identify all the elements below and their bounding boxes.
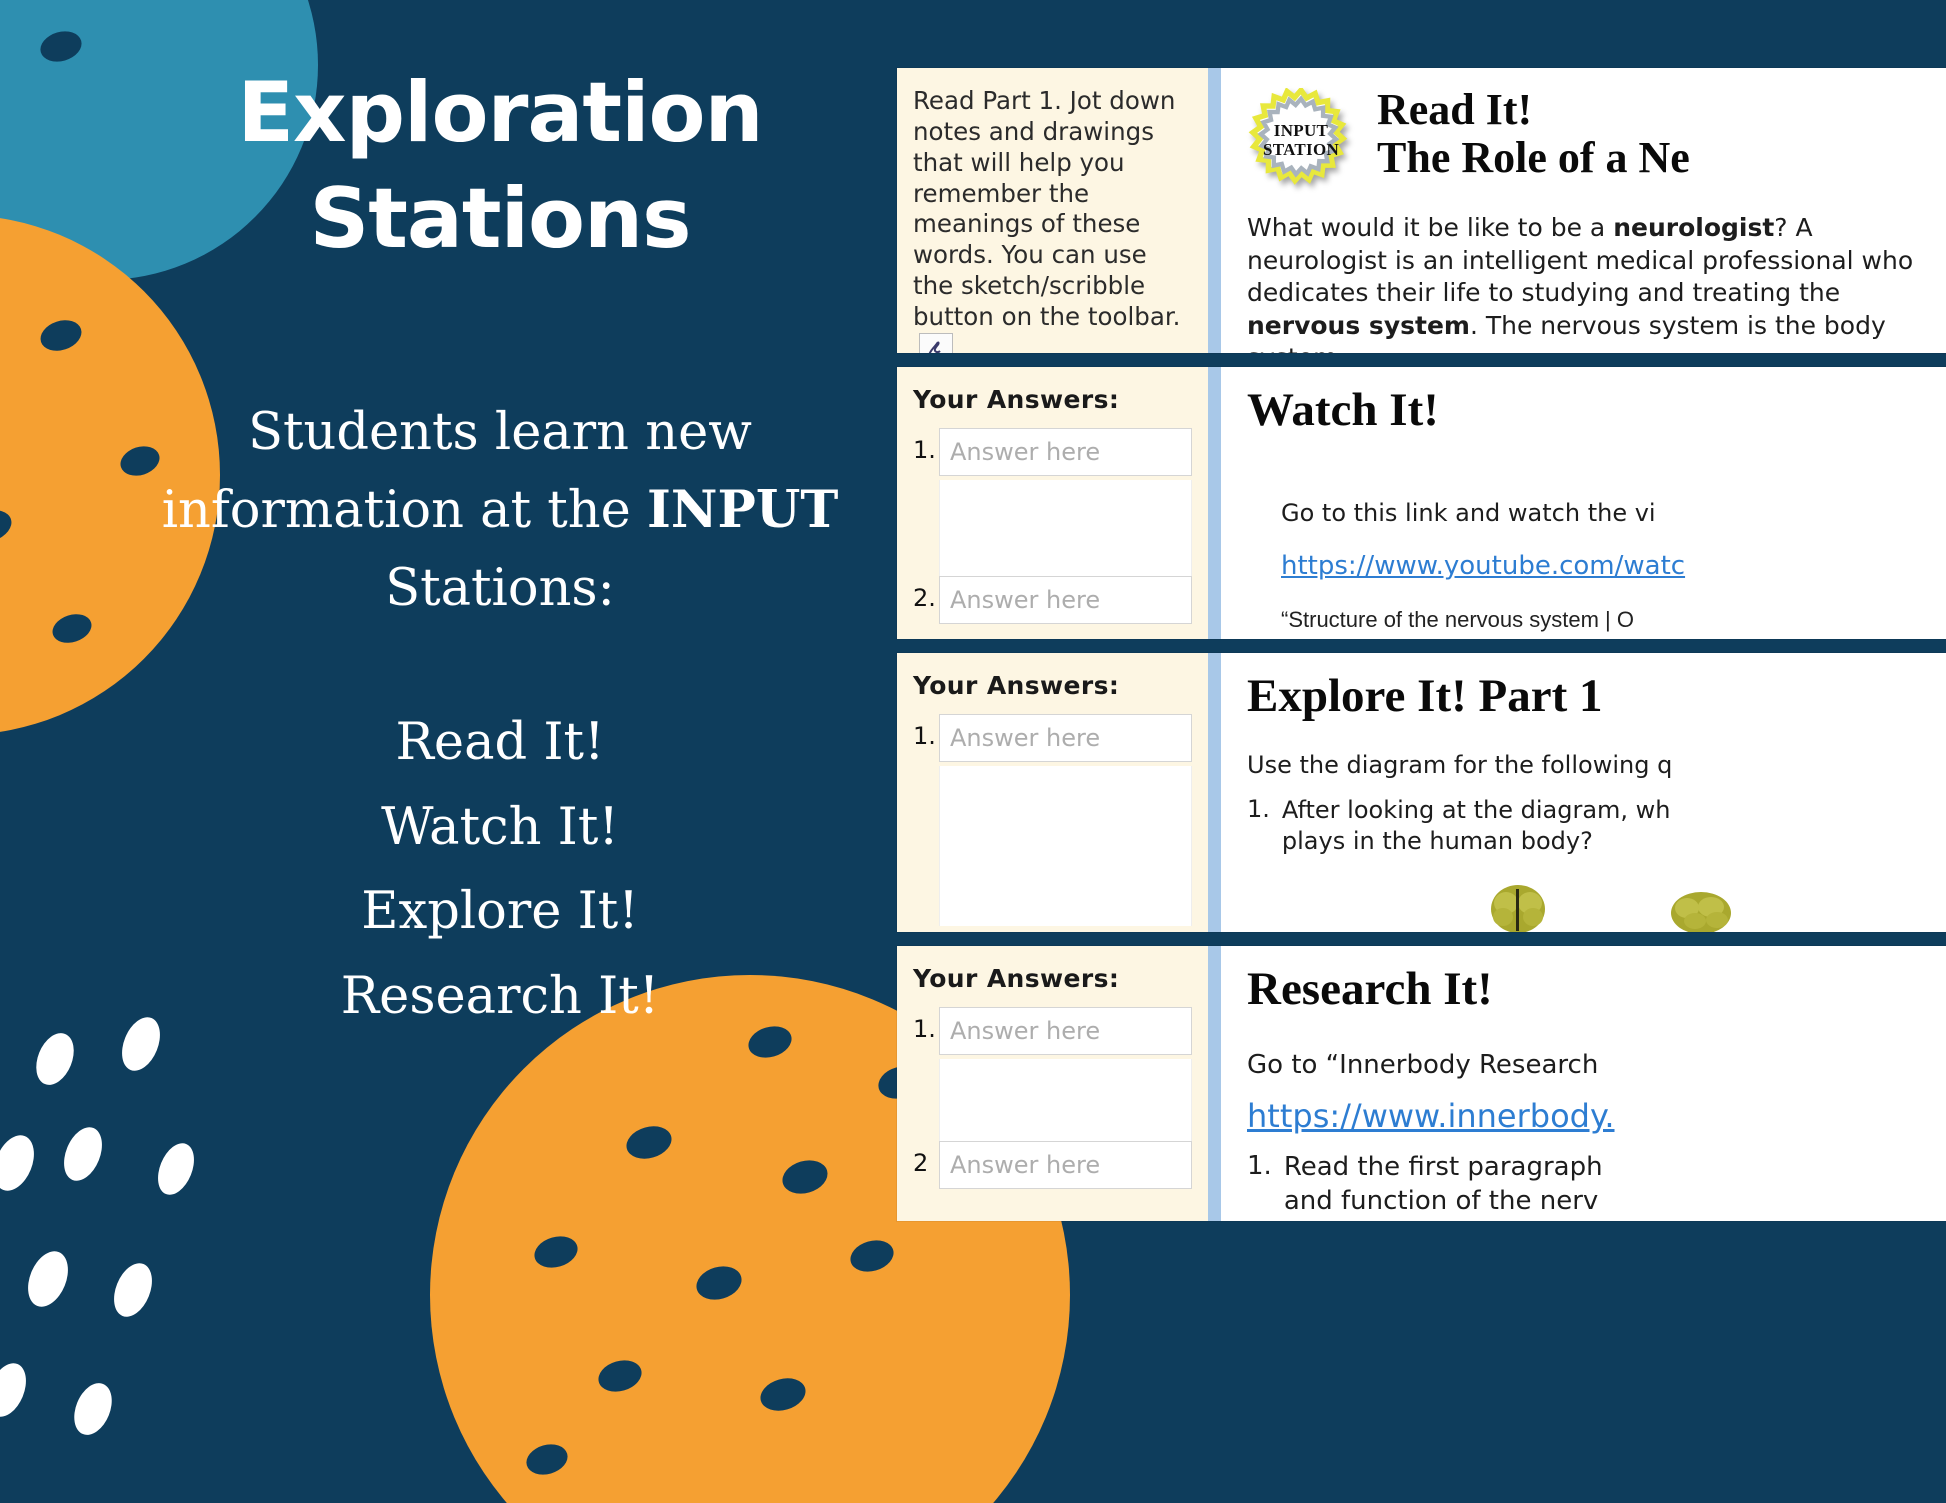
answer-number: 2.: [913, 576, 939, 612]
watch-it-caption: “Structure of the nervous system | O: [1281, 607, 1946, 633]
watch-it-heading: Watch It!: [1247, 385, 1946, 437]
screenshot-panel-research-it[interactable]: Your Answers: 1. Answer here 2 Answer he…: [897, 946, 1946, 1221]
answer-spacer: [939, 766, 1192, 926]
read-it-body: What would it be like to be a neurologis…: [1247, 212, 1946, 353]
page-title: Exploration Stations: [150, 60, 850, 272]
research-question-text-1: Read the first paragraph and function of…: [1284, 1151, 1603, 1219]
station-item-research: Research It!: [150, 955, 850, 1040]
explore-answers-label: Your Answers:: [913, 671, 1192, 700]
screenshot-panel-read-it[interactable]: Read Part 1. Jot down notes and drawings…: [897, 68, 1946, 353]
watch-it-intro: Go to this link and watch the vi: [1281, 497, 1946, 529]
research-it-site-link[interactable]: https://www.innerbody.: [1247, 1097, 1946, 1135]
input-station-badge-icon: INPUT STATION: [1247, 88, 1355, 196]
read-notes-column: Read Part 1. Jot down notes and drawings…: [897, 68, 1208, 353]
read-it-content: INPUT STATION Read It! The Role of a Ne …: [1208, 68, 1946, 353]
screenshot-panel-explore-it[interactable]: Your Answers: 1. Answer here Explore It!…: [897, 653, 1946, 932]
explore-it-intro: Use the diagram for the following q: [1247, 749, 1946, 781]
read-it-heading: Read It! The Role of a Ne: [1377, 86, 1690, 183]
research-it-content: Research It! Go to “Innerbody Research h…: [1208, 946, 1946, 1221]
answer-number: 1.: [913, 714, 939, 750]
read-body-bold-1: neurologist: [1613, 213, 1774, 242]
read-notes-text: Read Part 1. Jot down notes and drawings…: [913, 86, 1192, 353]
watch-it-content: Watch It! Go to this link and watch the …: [1208, 367, 1946, 639]
research-it-intro: Go to “Innerbody Research: [1247, 1048, 1946, 1083]
explore-it-heading: Explore It! Part 1: [1247, 671, 1946, 723]
research-answers-column: Your Answers: 1. Answer here 2 Answer he…: [897, 946, 1208, 1221]
lede-text-b: Stations:: [385, 559, 615, 618]
answer-row[interactable]: 2. Answer here: [913, 576, 1192, 624]
answer-row[interactable]: 1. Answer here: [913, 428, 1192, 476]
white-ovals-decoration: [0, 1010, 260, 1503]
brain-figure-2: [1665, 883, 1743, 932]
answer-spacer: [939, 480, 1192, 576]
slide-canvas: Exploration Stations Students learn new …: [0, 0, 1946, 1503]
station-item-watch: Watch It!: [150, 786, 850, 871]
answer-input[interactable]: Answer here: [939, 576, 1192, 624]
left-text-column: Exploration Stations Students learn new …: [150, 60, 850, 1040]
research-q1-line-1: Read the first paragraph: [1284, 1151, 1603, 1185]
explore-question-line-2: plays in the human body?: [1282, 826, 1671, 857]
read-it-header-row: INPUT STATION Read It! The Role of a Ne: [1247, 86, 1946, 196]
answer-input[interactable]: Answer here: [939, 1141, 1192, 1189]
screenshot-stack: Read Part 1. Jot down notes and drawings…: [897, 68, 1946, 1235]
read-notes-body: Read Part 1. Jot down notes and drawings…: [913, 86, 1180, 331]
station-item-read: Read It!: [150, 701, 850, 786]
answer-row[interactable]: 1. Answer here: [913, 714, 1192, 762]
read-body-bold-2: nervous system: [1247, 311, 1470, 340]
watch-answers-column: Your Answers: 1. Answer here 2. Answer h…: [897, 367, 1208, 639]
station-list: Read It! Watch It! Explore It! Research …: [150, 701, 850, 1040]
explore-question-line-1: After looking at the diagram, wh: [1282, 795, 1671, 826]
title-line-1: Exploration: [150, 60, 850, 166]
answer-row[interactable]: 1. Answer here: [913, 1007, 1192, 1055]
title-line-2: Stations: [150, 166, 850, 272]
read-it-heading-line-1: Read It!: [1377, 86, 1690, 134]
answer-spacer: [939, 1059, 1192, 1141]
answer-row[interactable]: 2 Answer here: [913, 1141, 1192, 1189]
research-question-number-1: 1.: [1247, 1151, 1272, 1219]
read-it-heading-line-2: The Role of a Ne: [1377, 134, 1690, 182]
lede-emphasis: INPUT: [647, 480, 838, 540]
research-it-heading: Research It!: [1247, 964, 1946, 1016]
answer-input[interactable]: Answer here: [939, 428, 1192, 476]
badge-line-2: STATION: [1247, 140, 1355, 159]
answer-input[interactable]: Answer here: [939, 714, 1192, 762]
read-body-seg-3: . The: [1470, 311, 1532, 340]
explore-it-content: Explore It! Part 1 Use the diagram for t…: [1208, 653, 1946, 932]
scribble-icon[interactable]: [919, 333, 953, 353]
answer-number: 1.: [913, 428, 939, 464]
answer-number: 2: [913, 1141, 939, 1177]
research-q1-line-2: and function of the nerv: [1284, 1185, 1603, 1219]
screenshot-panel-watch-it[interactable]: Your Answers: 1. Answer here 2. Answer h…: [897, 367, 1946, 639]
answer-number: 1.: [913, 1007, 939, 1043]
research-answers-label: Your Answers:: [913, 964, 1192, 993]
explore-question-row: 1. After looking at the diagram, wh play…: [1247, 795, 1946, 857]
watch-it-video-link[interactable]: https://www.youtube.com/watc: [1281, 551, 1946, 581]
read-body-seg-1: What would it be like to be a: [1247, 213, 1613, 242]
brain-figure-1: [1479, 883, 1557, 932]
answer-input[interactable]: Answer here: [939, 1007, 1192, 1055]
research-question-row-1: 1. Read the first paragraph and function…: [1247, 1151, 1946, 1219]
brain-diagram-icon: [1247, 883, 1946, 932]
station-item-explore: Explore It!: [150, 870, 850, 955]
badge-line-1: INPUT: [1247, 121, 1355, 140]
explore-answers-column: Your Answers: 1. Answer here: [897, 653, 1208, 932]
explore-question-number: 1.: [1247, 795, 1270, 857]
explore-question-text: After looking at the diagram, wh plays i…: [1282, 795, 1671, 857]
lede-paragraph: Students learn new information at the IN…: [150, 394, 850, 627]
input-station-badge-label: INPUT STATION: [1247, 121, 1355, 159]
watch-answers-label: Your Answers:: [913, 385, 1192, 414]
